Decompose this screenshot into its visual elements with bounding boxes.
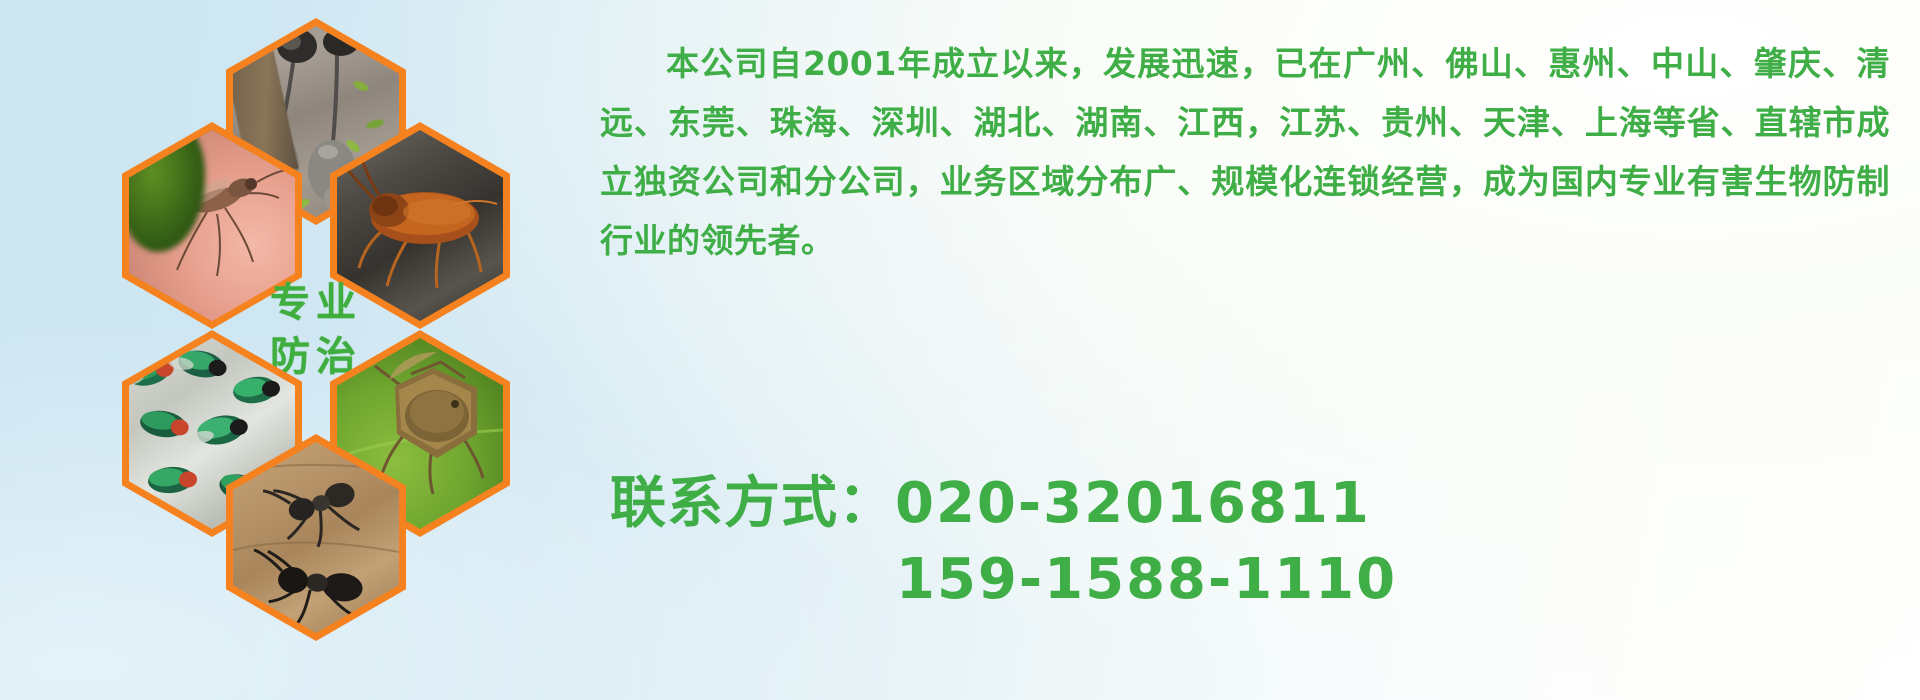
contact-line-mobile[interactable]: 159-1588-1110 bbox=[610, 542, 1920, 618]
phone-landline[interactable]: 020-32016811 bbox=[895, 471, 1371, 536]
slogan-line-1: 专业 bbox=[270, 283, 362, 323]
hex-photo-frame bbox=[233, 442, 399, 633]
slogan-line-2: 防治 bbox=[270, 337, 362, 377]
company-intro-paragraph: 本公司自2001年成立以来，发展迅速，已在广州、佛山、惠州、中山、肇庆、清远、东… bbox=[600, 34, 1890, 270]
contact-block: 联系方式：020-32016811 159-1588-1110 bbox=[610, 466, 1920, 618]
ants-illustration bbox=[233, 442, 399, 633]
copy-column: 本公司自2001年成立以来，发展迅速，已在广州、佛山、惠州、中山、肇庆、清远、东… bbox=[600, 34, 1900, 270]
honeycomb-cluster: 专业 防治 bbox=[78, 0, 598, 696]
phone-mobile[interactable]: 159-1588-1110 bbox=[896, 547, 1397, 612]
banner-canvas: 专业 防治 bbox=[0, 0, 1920, 700]
photo-ants bbox=[233, 442, 399, 633]
contact-label: 联系方式： bbox=[610, 471, 895, 536]
contact-line-landline[interactable]: 联系方式：020-32016811 bbox=[610, 466, 1920, 542]
